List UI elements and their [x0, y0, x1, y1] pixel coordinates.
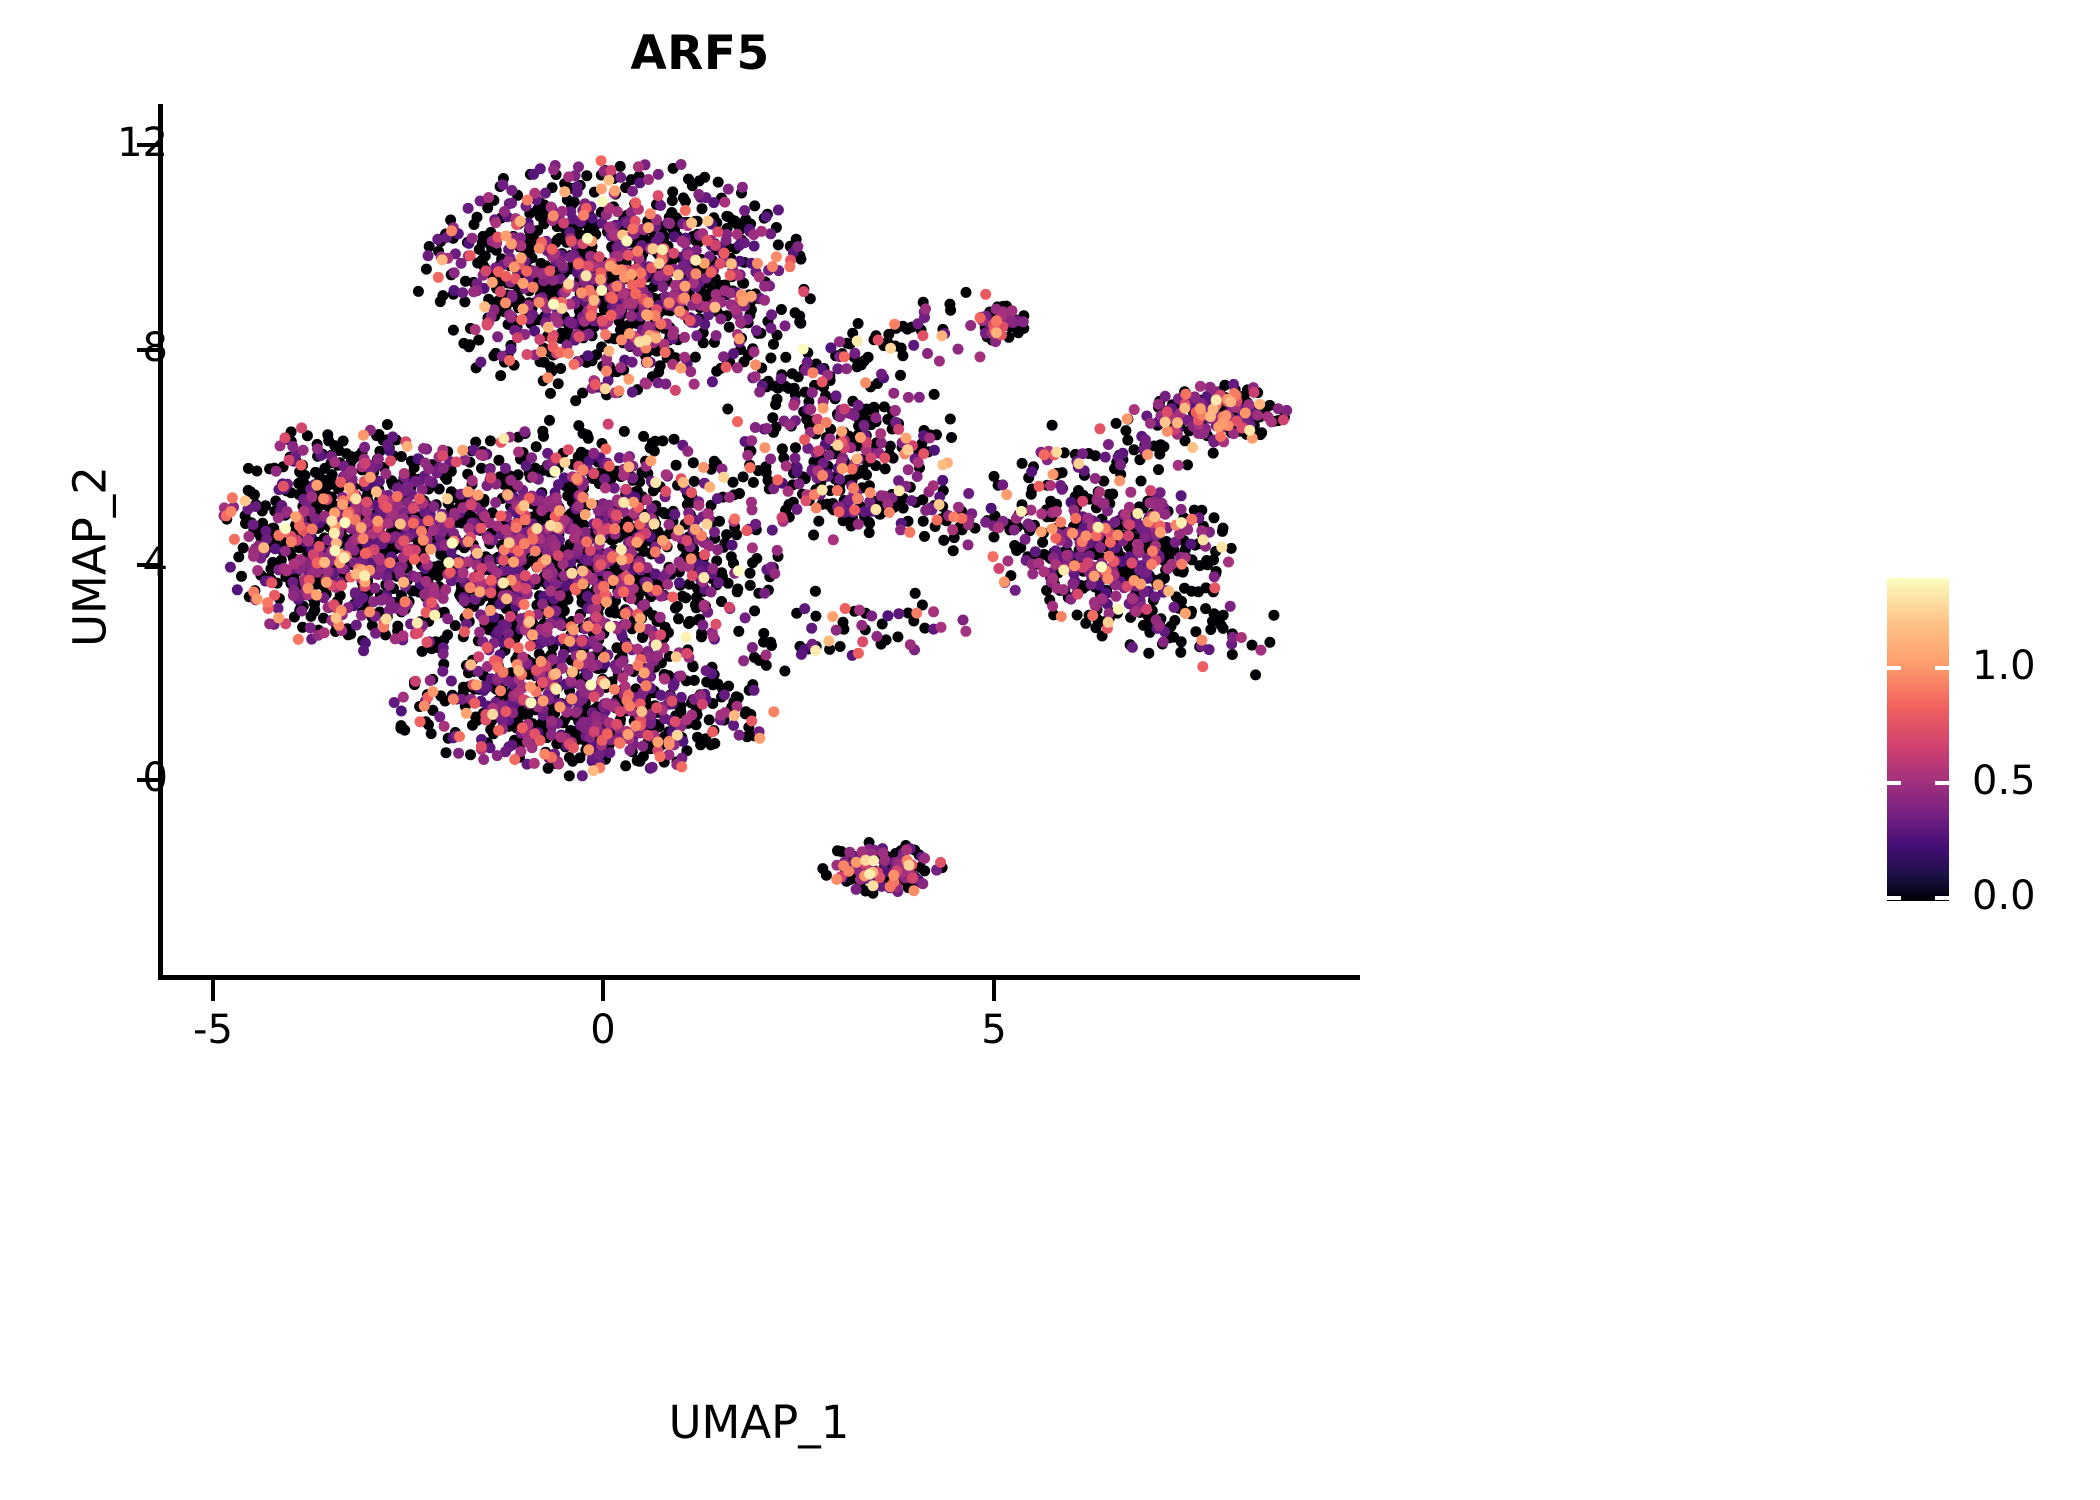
scatter-points	[163, 104, 1360, 975]
colorbar-label-0.5: 0.5	[1972, 761, 2036, 801]
y-axis-label: UMAP_2	[64, 157, 117, 957]
x-tick-label-5: 5	[981, 1010, 1006, 1050]
x-axis-spine	[158, 975, 1360, 980]
colorbar-tick-0.5-right	[1935, 781, 1949, 785]
colorbar-tick-1.0-left	[1887, 666, 1901, 670]
x-tick-label-minus5: -5	[193, 1010, 233, 1050]
x-axis-label: UMAP_1	[158, 1396, 1360, 1449]
y-tick-label-0: 0	[143, 758, 168, 798]
colorbar-label-1.0: 1.0	[1972, 646, 2036, 686]
scatter-plot-area	[163, 104, 1360, 975]
colorbar-tick-1.0-right	[1935, 666, 1949, 670]
colorbar-tick-0.5-left	[1887, 781, 1901, 785]
colorbar-gradient	[1887, 578, 1949, 901]
y-tick-label-4: 4	[143, 543, 168, 583]
y-tick-label-12: 12	[117, 123, 168, 163]
x-tick-mark-5	[992, 980, 996, 1001]
x-tick-label-0: 0	[590, 1010, 615, 1050]
colorbar-label-0.0: 0.0	[1972, 876, 2036, 916]
colorbar-tick-0.0-right	[1935, 896, 1949, 900]
colorbar-tick-0.0-left	[1887, 896, 1901, 900]
chart-title: ARF5	[0, 26, 1400, 81]
x-tick-mark-minus5	[211, 980, 215, 1001]
figure-canvas: ARF5 12 8 4 0 -5 0 5 UMAP_1 UMAP_2 1.0 0…	[0, 0, 2100, 1500]
y-tick-label-8: 8	[143, 328, 168, 368]
x-tick-mark-0	[601, 980, 605, 1001]
